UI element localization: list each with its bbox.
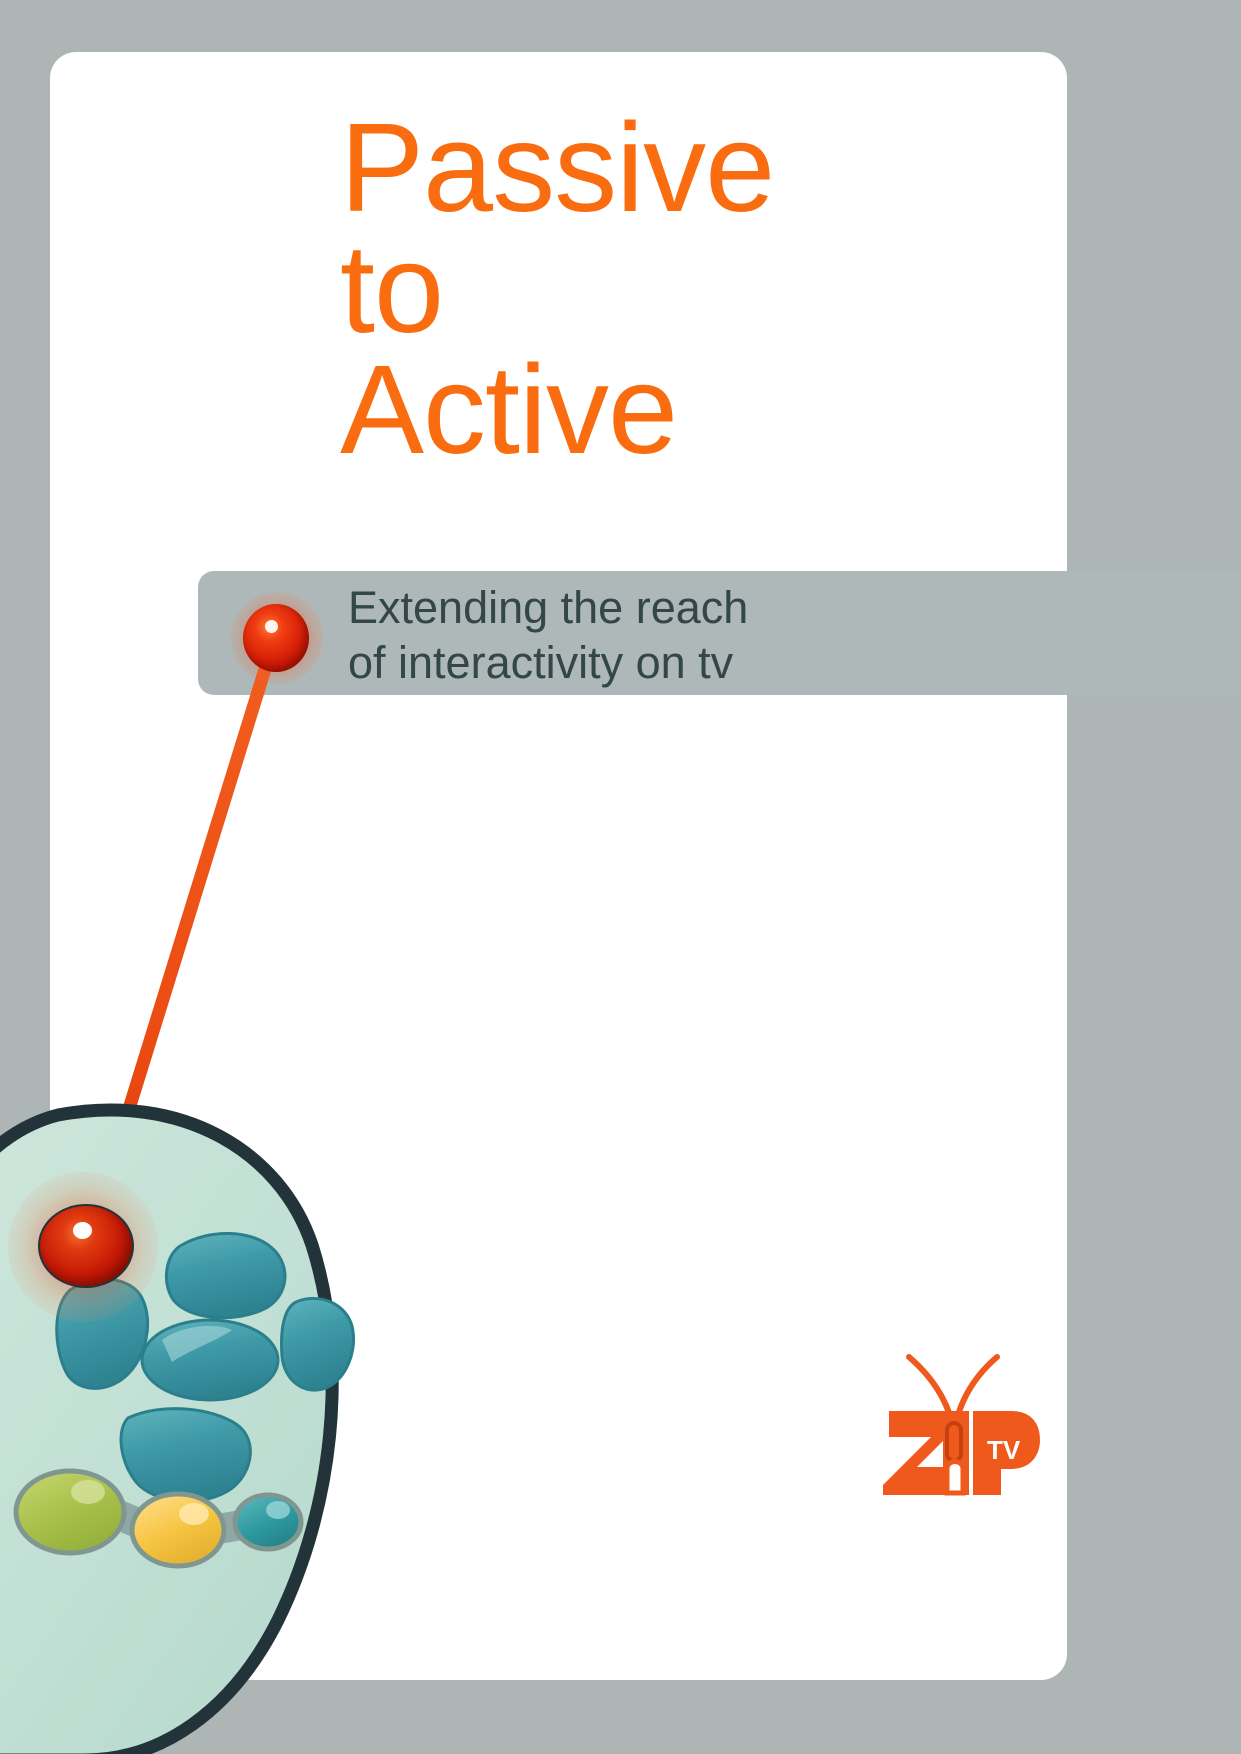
logo-suffix-tv: TV: [987, 1435, 1021, 1465]
zipper-slider-icon: [947, 1462, 963, 1494]
yellow-button: [132, 1494, 224, 1566]
laser-source-dot: [38, 1204, 134, 1288]
green-button: [16, 1471, 124, 1553]
laser-source-highlight: [73, 1222, 92, 1239]
cover-page: Passive to Active Extending the reach of…: [0, 0, 1241, 1754]
teal-button: [235, 1495, 301, 1549]
laser-target-highlight: [265, 620, 278, 633]
subtitle-text: Extending the reach of interactivity on …: [348, 581, 748, 691]
laser-target-dot: [243, 604, 309, 672]
remote-control-illustration: [0, 1040, 440, 1754]
subtitle-band: Extending the reach of interactivity on …: [198, 571, 1241, 695]
page-title: Passive to Active: [340, 108, 1040, 471]
zipper-pull-icon: [947, 1423, 961, 1461]
zip-tv-logo: TV: [865, 1335, 1040, 1515]
